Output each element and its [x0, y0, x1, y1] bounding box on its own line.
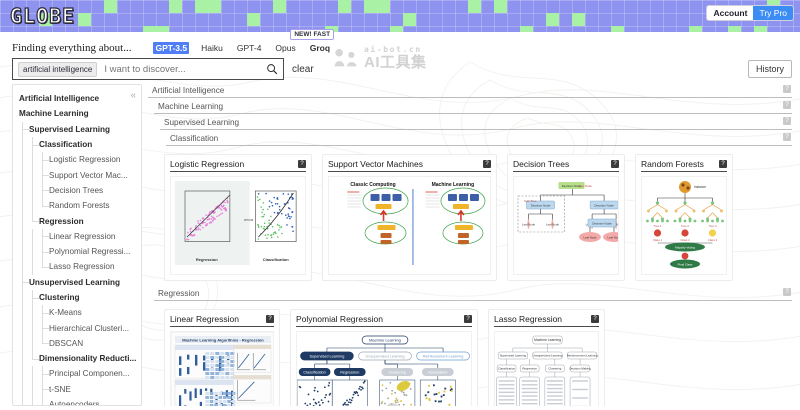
sidebar-item-label: Supervised Learning — [29, 125, 110, 134]
svg-text:Supervised Learning: Supervised Learning — [500, 354, 527, 358]
sidebar-item-label: Classification — [39, 140, 92, 149]
tree-guide-segment — [19, 382, 29, 397]
tree-guides — [19, 275, 29, 290]
tree-guide-segment — [19, 183, 29, 198]
page-body: « Artificial IntelligenceMachine Learnin… — [0, 80, 800, 406]
tree-guide-segment — [29, 290, 39, 305]
tree-guides — [19, 336, 49, 351]
svg-text:Majority-Voting: Majority-Voting — [675, 245, 695, 249]
tree-guides — [19, 259, 49, 274]
random-forests-thumb: InstanceTree 1Class 1Tree 2Class 2Tree 3… — [642, 177, 727, 269]
svg-text:Regression: Regression — [196, 257, 218, 262]
svg-text:Leaf Node: Leaf Node — [546, 223, 559, 227]
tree-guides — [19, 167, 49, 182]
tree-guides — [19, 320, 49, 335]
tree-guide-segment — [29, 213, 39, 228]
tree-guide-segment — [19, 137, 29, 152]
topbar-pattern-cell — [338, 0, 351, 13]
svg-text:Decision Node: Decision Node — [594, 204, 614, 208]
card-row: Linear Regression?Machine Learning Algor… — [148, 303, 792, 406]
sidebar-item-logistic-regression[interactable]: Logistic Regression — [19, 152, 137, 167]
sidebar-item-machine-learning[interactable]: Machine Learning — [19, 106, 137, 121]
svg-text:Machine Learning: Machine Learning — [534, 338, 561, 342]
decision-trees-thumb: Decision NodeDecision NodeLeaf NodeLeaf … — [514, 177, 619, 269]
sidebar-item-supervised-learning[interactable]: Supervised Learning — [19, 122, 137, 137]
model-option-haiku[interactable]: Haiku — [199, 42, 225, 54]
card-help-button[interactable]: ? — [591, 315, 599, 323]
history-button[interactable]: History — [748, 60, 792, 78]
card-header: Support Vector Machines? — [328, 159, 491, 172]
card-title: Polynomial Regression — [296, 314, 383, 324]
tree-guide-segment — [19, 320, 29, 335]
svg-text:Unsupervised Learning: Unsupervised Learning — [365, 355, 404, 359]
card-title: Lasso Regression — [494, 314, 562, 324]
result-card-polynomial-regression[interactable]: Polynomial Regression?Machine LearningSu… — [290, 309, 478, 406]
sidebar-item-dimensionality-reducti[interactable]: Dimensionality Reducti... — [19, 351, 137, 366]
svg-text:Root Node: Root Node — [578, 184, 593, 188]
sidebar-item-polynomial-regressi[interactable]: Polynomial Regressi... — [19, 244, 137, 259]
card-thumbnail[interactable]: InstanceTree 1Class 1Tree 2Class 2Tree 3… — [641, 176, 727, 275]
topbar-pattern-cell — [377, 0, 390, 13]
svg-text:Classification: Classification — [498, 367, 515, 371]
topbar-pattern-cell — [273, 0, 286, 13]
svg-text:Unsupervised Learning: Unsupervised Learning — [533, 354, 563, 358]
tree-guide-segment — [29, 198, 39, 213]
section-help-button[interactable]: ? — [783, 85, 791, 93]
sidebar-item-label: Regression — [39, 217, 84, 226]
svg-text:Machine Learning Algorithms -: Machine Learning Algorithms - Regression — [182, 337, 264, 342]
tree-guide-segment — [19, 122, 29, 137]
tree-guides — [19, 290, 39, 305]
tree-guide-segment — [39, 167, 49, 182]
card-header: Random Forests? — [641, 159, 727, 172]
result-card-logistic-regression[interactable]: Logistic Regression?RegressionClassifica… — [164, 154, 312, 281]
svg-text:Class 3: Class 3 — [708, 238, 718, 242]
sidebar-item-label: Decision Trees — [49, 186, 103, 195]
sidebar-item-label: K-Means — [49, 308, 82, 317]
topbar-pattern-cell — [468, 0, 481, 13]
sidebar-item-label: Linear Regression — [49, 232, 115, 241]
svg-text:Leaf Node: Leaf Node — [522, 223, 535, 227]
result-card-support-vector-machines[interactable]: Support Vector Machines?Classic Computin… — [322, 154, 497, 281]
topbar-pattern-cell — [247, 13, 260, 26]
sidebar-item-unsupervised-learning[interactable]: Unsupervised Learning — [19, 275, 137, 290]
svg-text:Classification: Classification — [263, 257, 290, 262]
section-header-machine-learning[interactable]: Machine Learning? — [154, 100, 792, 114]
section-title: Classification — [170, 134, 218, 143]
sidebar-item-principal-componen[interactable]: Principal Componen... — [19, 366, 137, 381]
try-pro-button[interactable]: Try Pro — [753, 6, 793, 20]
tree-guide-segment — [29, 244, 39, 259]
tree-guide-segment — [39, 366, 49, 381]
tree-guides — [19, 382, 49, 397]
tree-guide-segment — [19, 275, 29, 290]
sidebar-item-label: Logistic Regression — [49, 155, 120, 164]
card-thumbnail[interactable]: Classic ComputingMachine Learning — [328, 176, 491, 275]
sidebar-item-label: Support Vector Mac... — [49, 171, 128, 180]
tree-guide-segment — [29, 397, 39, 406]
sidebar-item-support-vector-mac[interactable]: Support Vector Mac... — [19, 167, 137, 182]
chevron-double-left-icon[interactable]: « — [130, 91, 136, 101]
card-header: Polynomial Regression? — [296, 314, 472, 327]
tree-guides — [19, 397, 49, 406]
section-title: Supervised Learning — [164, 118, 239, 127]
card-help-button[interactable]: ? — [719, 160, 727, 168]
tree-guide-segment — [39, 305, 49, 320]
tree-guides — [19, 305, 49, 320]
svg-text:Regression: Regression — [522, 367, 537, 371]
sidebar-item-lasso-regression[interactable]: Lasso Regression — [19, 259, 137, 274]
svg-text:Sub-Tree: Sub-Tree — [524, 199, 537, 203]
tree-guide-segment — [39, 244, 49, 259]
sidebar-item-hierarchical-clusteri[interactable]: Hierarchical Clusteri... — [19, 320, 137, 335]
account-button[interactable]: Account — [707, 6, 753, 20]
result-card-linear-regression[interactable]: Linear Regression?Machine Learning Algor… — [164, 309, 280, 406]
sidebar-item-classification[interactable]: Classification — [19, 137, 137, 152]
svg-text:versus: versus — [244, 218, 254, 222]
section-help-button[interactable]: ? — [783, 117, 791, 125]
model-option-groq[interactable]: Groq — [308, 42, 332, 54]
result-card-decision-trees[interactable]: Decision Trees?Decision NodeDecision Nod… — [507, 154, 625, 281]
svg-text:Class 2: Class 2 — [680, 238, 690, 242]
tree-guide-segment — [19, 213, 29, 228]
top-bar: GLOBE Account Try Pro — [0, 0, 800, 32]
tree-guides — [19, 183, 49, 198]
tree-guide-segment — [29, 366, 39, 381]
topbar-pattern-cell — [208, 0, 221, 13]
card-thumbnail[interactable]: Machine LearningSupervised LearningUnsup… — [494, 331, 599, 406]
card-header: Logistic Regression? — [170, 159, 306, 172]
polynomial-regression-thumb: Machine LearningSupervised LearningUnsup… — [297, 332, 472, 406]
svg-text:Machine Learning: Machine Learning — [432, 182, 475, 188]
sidebar-item-decision-trees[interactable]: Decision Trees — [19, 183, 137, 198]
card-title: Support Vector Machines — [328, 159, 423, 169]
tree-guide-segment — [39, 229, 49, 244]
tree-guide-segment — [19, 290, 29, 305]
tree-guides — [19, 213, 39, 228]
lasso-regression-thumb: Machine LearningSupervised LearningUnsup… — [495, 332, 599, 406]
svg-text:Final Class: Final Class — [678, 262, 693, 266]
linear-regression-thumb: Machine Learning Algorithms - Regression — [171, 332, 274, 406]
tree-guide-segment — [29, 183, 39, 198]
search-prompt-label: Finding everything about... — [12, 42, 131, 54]
search-term-chip[interactable]: artificial intelligence — [18, 62, 97, 77]
card-thumbnail[interactable]: Decision NodeDecision NodeLeaf NodeLeaf … — [513, 176, 619, 275]
topbar-pattern-cell — [104, 0, 117, 13]
card-help-button[interactable]: ? — [483, 160, 491, 168]
svg-text:Decision Making: Decision Making — [569, 367, 591, 371]
sidebar-item-label: Lasso Regression — [49, 262, 115, 271]
svg-text:Classic Computing: Classic Computing — [350, 182, 395, 188]
sidebar-item-regression[interactable]: Regression — [19, 213, 137, 228]
result-card-random-forests[interactable]: Random Forests?InstanceTree 1Class 1Tree… — [635, 154, 733, 281]
svg-text:Machine Learning: Machine Learning — [369, 338, 401, 343]
sidebar-item-dbscan[interactable]: DBSCAN — [19, 336, 137, 351]
sidebar-tree: « Artificial IntelligenceMachine Learnin… — [12, 84, 142, 406]
svg-text:Tree 1: Tree 1 — [653, 224, 661, 228]
tree-guide-segment — [39, 152, 49, 167]
tree-guide-segment — [39, 382, 49, 397]
tree-guides — [19, 152, 49, 167]
sidebar-item-label: Hierarchical Clusteri... — [49, 324, 129, 333]
tree-guide-segment — [19, 397, 29, 406]
topbar-pattern-cell — [403, 13, 416, 26]
tree-guide-segment — [29, 167, 39, 182]
tree-guide-segment — [29, 152, 39, 167]
sidebar-item-label: Polynomial Regressi... — [49, 247, 130, 256]
tree-guide-segment — [29, 259, 39, 274]
tree-guide-segment — [39, 183, 49, 198]
search-prompt-row: Finding everything about... GPT-3.5Haiku… — [12, 38, 788, 54]
sidebar-item-k-means[interactable]: K-Means — [19, 305, 137, 320]
svg-text:Supervised Learning: Supervised Learning — [309, 355, 344, 359]
tree-guide-segment — [29, 351, 39, 366]
section-title: Artificial Intelligence — [152, 86, 224, 95]
search-input-box[interactable]: artificial intelligence — [12, 58, 284, 80]
card-header: Lasso Regression? — [494, 314, 599, 327]
sidebar-item-label: Unsupervised Learning — [29, 278, 120, 287]
section-title: Machine Learning — [158, 102, 223, 111]
sidebar-item-label: Dimensionality Reducti... — [39, 354, 136, 363]
main-results-panel: Artificial Intelligence?Machine Learning… — [148, 84, 792, 406]
topbar-pattern-cell — [572, 13, 585, 26]
tree-guides — [19, 244, 49, 259]
card-header: Decision Trees? — [513, 159, 619, 172]
section-header-artificial-intelligence[interactable]: Artificial Intelligence? — [148, 84, 792, 98]
svg-text:Leaf Node: Leaf Node — [584, 236, 597, 240]
tree-guides — [19, 122, 29, 137]
section-header-supervised-learning[interactable]: Supervised Learning? — [160, 116, 792, 130]
search-input[interactable] — [102, 63, 261, 76]
tree-guide-segment — [29, 382, 39, 397]
sidebar-item-label: DBSCAN — [49, 339, 83, 348]
tree-guide-segment — [19, 167, 29, 182]
tree-guide-segment — [29, 137, 39, 152]
card-title: Random Forests — [641, 159, 704, 169]
card-help-button[interactable]: ? — [464, 315, 472, 323]
svg-text:Clustering: Clustering — [548, 367, 561, 371]
sidebar-item-label: t-SNE — [49, 385, 71, 394]
tree-guide-segment — [19, 152, 29, 167]
card-title: Logistic Regression — [170, 159, 244, 169]
tree-guide-segment — [19, 336, 29, 351]
svg-text:Reinforcement Learning: Reinforcement Learning — [567, 354, 598, 358]
support-vector-machines-thumb: Classic ComputingMachine Learning — [329, 177, 491, 269]
svg-text:Leaf Node: Leaf Node — [608, 236, 619, 240]
sidebar-item-label: Principal Componen... — [49, 369, 130, 378]
tree-guide-segment — [19, 351, 29, 366]
tree-guide-segment — [39, 259, 49, 274]
sidebar-item-label: Artificial Intelligence — [19, 94, 99, 103]
tree-guide-segment — [29, 229, 39, 244]
svg-text:Instance: Instance — [694, 185, 706, 189]
clear-button[interactable]: clear — [292, 64, 314, 75]
tree-guides — [19, 351, 39, 366]
section-help-button[interactable]: ? — [783, 133, 791, 141]
sidebar-item-random-forests[interactable]: Random Forests — [19, 198, 137, 213]
tree-guide-segment — [19, 259, 29, 274]
topbar-pattern-cell — [546, 13, 559, 26]
sidebar-item-label: Random Forests — [49, 201, 110, 210]
card-help-button[interactable]: ? — [298, 160, 306, 168]
tree-guide-segment — [19, 244, 29, 259]
svg-text:Reinforcement Learning: Reinforcement Learning — [423, 355, 464, 359]
svg-text:Classification: Classification — [303, 371, 325, 375]
card-thumbnail[interactable]: RegressionClassificationversus — [170, 176, 306, 275]
tree-guide-segment — [29, 320, 39, 335]
tree-guides — [19, 198, 49, 213]
card-header: Linear Regression? — [170, 314, 274, 327]
svg-text:Class 1: Class 1 — [653, 238, 663, 242]
card-title: Decision Trees — [513, 159, 569, 169]
card-row: Logistic Regression?RegressionClassifica… — [148, 148, 792, 287]
tree-guide-segment — [39, 198, 49, 213]
new-fast-badge: NEW! FAST — [290, 29, 334, 40]
result-card-lasso-regression[interactable]: Lasso Regression?Machine LearningSupervi… — [488, 309, 605, 406]
sidebar-item-label: Machine Learning — [19, 109, 89, 118]
card-title: Linear Regression — [170, 314, 239, 324]
tree-guide-segment — [39, 397, 49, 406]
card-thumbnail[interactable]: Machine Learning Algorithms - Regression — [170, 331, 274, 406]
sidebar-item-artificial-intelligence[interactable]: Artificial Intelligence — [19, 91, 137, 106]
model-selector[interactable]: GPT-3.5HaikuGPT-4OpusGroqNEW! FAST — [153, 42, 332, 54]
svg-text:Decision Node: Decision Node — [531, 204, 551, 208]
model-option-opus[interactable]: Opus — [273, 42, 297, 54]
model-option-gpt-4[interactable]: GPT-4 — [235, 42, 264, 54]
svg-text:Regression: Regression — [340, 371, 359, 375]
tree-guide-segment — [39, 320, 49, 335]
svg-text:Association: Association — [428, 371, 447, 375]
card-help-button[interactable]: ? — [611, 160, 619, 168]
svg-text:Decision Node: Decision Node — [592, 222, 612, 226]
svg-text:Tree 3: Tree 3 — [709, 224, 717, 228]
tree-guide-segment — [29, 305, 39, 320]
search-bar-row: artificial intelligence clear — [12, 58, 788, 80]
app-logo[interactable]: GLOBE — [10, 4, 75, 28]
search-icon[interactable] — [266, 63, 278, 75]
section-header-regression[interactable]: Regression? — [154, 287, 792, 301]
tree-guides — [19, 229, 49, 244]
card-thumbnail[interactable]: Machine LearningSupervised LearningUnsup… — [296, 331, 472, 406]
tree-guide-segment — [19, 305, 29, 320]
section-title: Regression — [158, 289, 199, 298]
svg-text:Tree 2: Tree 2 — [681, 224, 689, 228]
tree-guide-segment — [19, 198, 29, 213]
account-controls: Account Try Pro — [706, 5, 794, 21]
section-help-button[interactable]: ? — [783, 101, 791, 109]
tree-guides — [19, 366, 49, 381]
svg-text:Clustering: Clustering — [389, 371, 406, 375]
tree-guide-segment — [19, 366, 29, 381]
section-header-classification[interactable]: Classification? — [166, 132, 792, 146]
sidebar-item-t-sne[interactable]: t-SNE — [19, 382, 137, 397]
sidebar-item-label: Autoencoders — [49, 400, 100, 406]
tree-guides — [19, 137, 39, 152]
logistic-regression-thumb: RegressionClassificationversus — [171, 177, 306, 269]
tree-guide-segment — [19, 229, 29, 244]
tree-guide-segment — [39, 336, 49, 351]
model-option-gpt-3-5[interactable]: GPT-3.5 — [153, 42, 189, 54]
card-help-button[interactable]: ? — [266, 315, 274, 323]
section-help-button[interactable]: ? — [783, 288, 791, 296]
search-zone: Finding everything about... GPT-3.5Haiku… — [0, 32, 800, 80]
sidebar-item-label: Clustering — [39, 293, 80, 302]
sidebar-item-clustering[interactable]: Clustering — [19, 290, 137, 305]
topbar-pattern-cell — [364, 0, 377, 13]
tree-guide-segment — [29, 336, 39, 351]
sidebar-item-autoencoders[interactable]: Autoencoders — [19, 397, 137, 406]
topbar-pattern-cell — [78, 13, 91, 26]
topbar-pattern-cell — [494, 0, 507, 13]
topbar-pattern-cell — [169, 0, 182, 13]
topbar-pattern-cell — [195, 0, 208, 13]
sidebar-item-linear-regression[interactable]: Linear Regression — [19, 229, 137, 244]
